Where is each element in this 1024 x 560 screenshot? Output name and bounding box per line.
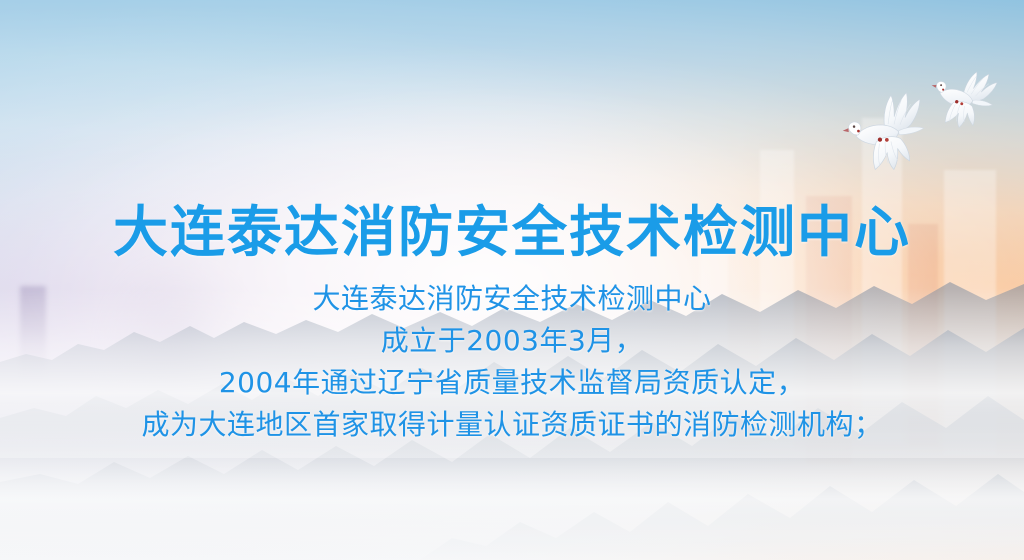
description-line: 2004年通过辽宁省质量技术监督局资质认定， bbox=[0, 362, 1024, 404]
description-line: 大连泰达消防安全技术检测中心 bbox=[0, 278, 1024, 320]
description-block: 大连泰达消防安全技术检测中心成立于2003年3月，2004年通过辽宁省质量技术监… bbox=[0, 278, 1024, 446]
banner-slide: 大连泰达消防安全技术检测中心 大连泰达消防安全技术检测中心成立于2003年3月，… bbox=[0, 0, 1024, 560]
page-title: 大连泰达消防安全技术检测中心 bbox=[0, 203, 1024, 262]
description-line: 成为大连地区首家取得计量认证资质证书的消防检测机构； bbox=[0, 404, 1024, 446]
description-line: 成立于2003年3月， bbox=[0, 320, 1024, 362]
